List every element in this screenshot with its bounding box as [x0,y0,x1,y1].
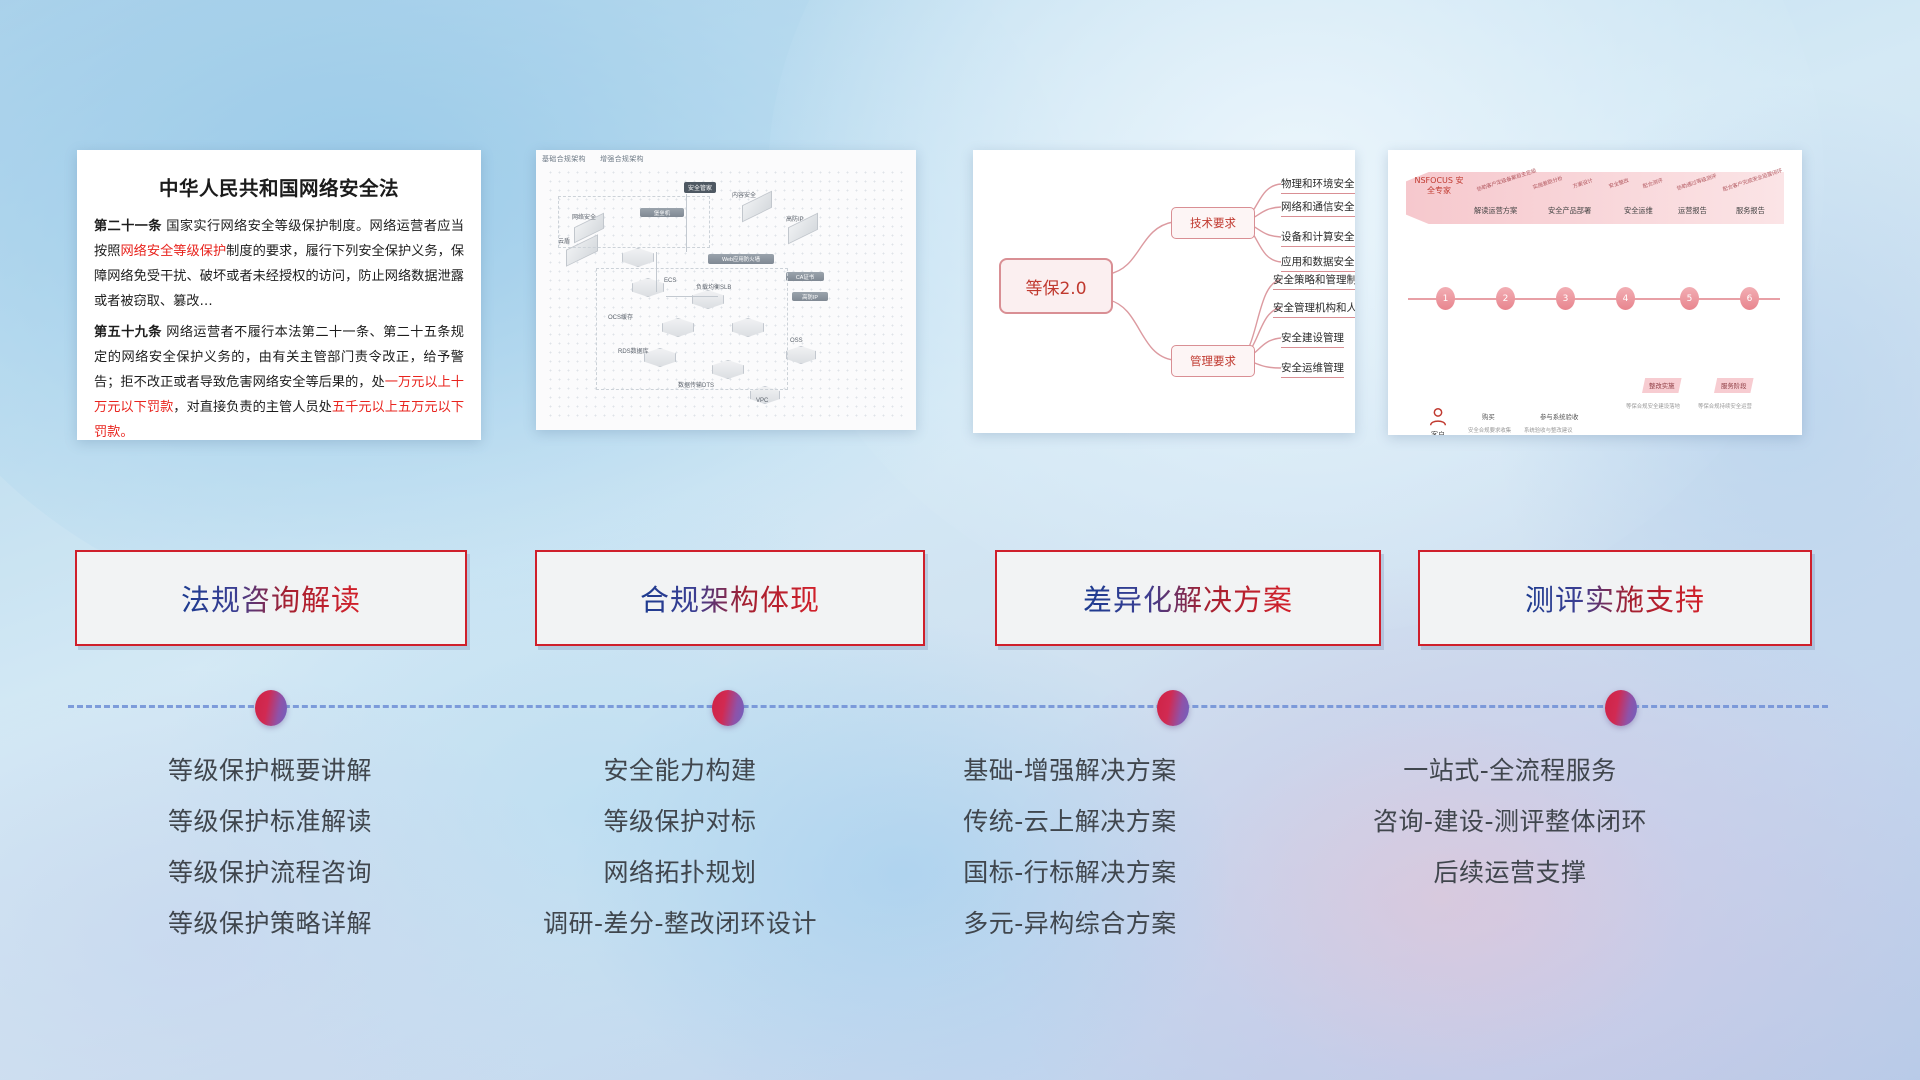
article-text-mid: ，对直接负责的主管人员处 [173,400,332,415]
phase-sub: 等保合规持续安全运营 [1698,402,1752,410]
column-differentiated-solution: 基础-增强解决方案 传统-云上解决方案 国标-行标解决方案 多元-异构综合方案 [860,745,1280,949]
thumbnail-dengbao-mindmap[interactable]: 等保2.0 技术要求 管理要求 物理和环境安全 网络和通信安全 设备和计算安全 … [973,150,1355,433]
timeline [0,690,1920,730]
nsfocus-caption: 安全运维 [1624,206,1653,216]
bottom-item: 参与系统验收 [1540,412,1578,421]
nsfocus-axis [1408,298,1780,300]
header-label: 法规咨询解读 [181,577,361,619]
column-assessment-support: 一站式-全流程服务 咨询-建设-测评整体闭环 后续运营支撑 [1300,745,1720,898]
mindmap-branch-technical: 技术要求 [1171,207,1255,239]
header-compliance-architecture[interactable]: 合规架构体现 [535,550,925,646]
bottom-item: 购买 [1482,412,1495,421]
timeline-dot-3[interactable] [1157,690,1189,726]
arch-label-oss: OSS [790,338,803,344]
mindmap-root: 等保2.0 [999,258,1113,314]
timeline-dashed-line [68,705,1828,708]
nsfocus-caption: 运营报告 [1678,206,1707,216]
list-item: 国标-行标解决方案 [860,847,1280,898]
bottom-sub: 系统验收与整改建议 [1524,426,1573,434]
list-item: 等级保护流程咨询 [60,847,480,898]
list-item: 传统-云上解决方案 [860,796,1280,847]
arch-caption-right: 增强合规架构 [600,154,644,164]
list-item: 等级保护对标 [470,796,890,847]
customer-label: 客户 [1412,430,1464,435]
law-article-21: 第二十一条 国家实行网络安全等级保护制度。网络运营者应当按照网络安全等级保护制度… [94,214,464,314]
list-item: 调研-差分-整改闭环设计 [470,898,890,949]
nsfocus-customer: 客户 安全合规需求 [1412,406,1464,435]
step-marker: 5 [1680,287,1699,310]
header-row: 法规咨询解读 合规架构体现 差异化解决方案 测评实施支持 [0,550,1920,650]
list-item: 网络拓扑规划 [470,847,890,898]
list-item: 安全能力构建 [470,745,890,796]
list-item: 一站式-全流程服务 [1300,745,1720,796]
nsfocus-caption: 服务报告 [1736,206,1765,216]
phase-sub: 等保合规安全建设落地 [1626,402,1680,410]
list-item: 等级保护策略详解 [60,898,480,949]
list-item: 多元-异构综合方案 [860,898,1280,949]
thumbnail-architecture-diagram[interactable]: 基础合规架构 增强合规架构 安全管家 堡垒机 网络安全 云盾 内容安全 高防IP… [536,150,916,430]
law-article-59: 第五十九条 网络运营者不履行本法第二十一条、第二十五条规定的网络安全保护义务的，… [94,320,464,440]
mindmap-leaf: 物理和环境安全 [1281,176,1355,194]
arch-node-waf: Web应用防火墙 [708,254,774,264]
mindmap-leaf: 设备和计算安全 [1281,229,1355,247]
arch-node-antiddos: 高防IP [792,292,828,301]
arch-label-vpc: VPC [756,398,768,404]
article-number: 第五十九条 [94,325,162,340]
law-title: 中华人民共和国网络安全法 [94,172,464,201]
column-compliance-architecture: 安全能力构建 等级保护对标 网络拓扑规划 调研-差分-整改闭环设计 [470,745,890,949]
list-item: 后续运营支撑 [1300,847,1720,898]
list-item: 基础-增强解决方案 [860,745,1280,796]
step-marker: 4 [1616,287,1635,310]
header-regulation-consulting[interactable]: 法规咨询解读 [75,550,467,646]
nsfocus-caption: 解读运营方案 [1474,206,1517,216]
header-label: 差异化解决方案 [1083,577,1293,619]
nsfocus-caption: 安全产品部署 [1548,206,1591,216]
header-label: 合规架构体现 [640,577,820,619]
list-item: 等级保护概要讲解 [60,745,480,796]
mindmap-branch-management: 管理要求 [1171,345,1255,377]
timeline-dot-1[interactable] [255,690,287,726]
step-marker: 1 [1436,287,1455,310]
bottom-sub: 安全合规要求收集 [1468,426,1511,434]
phase-tag: 服务阶段 [1714,378,1754,393]
arch-label-4: 高防IP [786,214,804,223]
mindmap-leaf: 安全运维管理 [1281,360,1344,378]
arch-label-3: 内容安全 [732,190,756,199]
mindmap-leaf: 网络和通信安全 [1281,199,1355,217]
thumbnail-cybersecurity-law[interactable]: 中华人民共和国网络安全法 第二十一条 国家实行网络安全等级保护制度。网络运营者应… [77,150,481,440]
article-number: 第二十一条 [94,219,162,234]
list-item: 咨询-建设-测评整体闭环 [1300,796,1720,847]
mindmap-leaf: 安全建设管理 [1281,330,1344,348]
step-marker: 6 [1740,287,1759,310]
person-icon [1427,406,1449,428]
timeline-dot-2[interactable] [712,690,744,726]
step-marker: 3 [1556,287,1575,310]
column-regulation-consulting: 等级保护概要讲解 等级保护标准解读 等级保护流程咨询 等级保护策略详解 [60,745,480,949]
phase-tag: 整改实施 [1642,378,1682,393]
thumbnail-row: 中华人民共和国网络安全法 第二十一条 国家实行网络安全等级保护制度。网络运营者应… [0,150,1920,440]
nsfocus-logo: NSFOCUS 安全专家 [1412,176,1466,196]
header-assessment-support[interactable]: 测评实施支持 [1418,550,1812,646]
bullet-columns: 等级保护概要讲解 等级保护标准解读 等级保护流程咨询 等级保护策略详解 安全能力… [0,745,1920,1005]
mindmap-leaf: 应用和数据安全 [1281,254,1355,272]
header-label: 测评实施支持 [1525,577,1705,619]
mindmap-leaf: 安全策略和管理制度 [1273,272,1355,290]
list-item: 等级保护标准解读 [60,796,480,847]
mindmap-leaf: 安全管理机构和人员 [1273,300,1355,318]
article-highlight: 网络安全等级保护 [120,244,226,259]
header-differentiated-solution[interactable]: 差异化解决方案 [995,550,1381,646]
step-marker: 2 [1496,287,1515,310]
arch-node-ca: CA证书 [786,272,824,281]
arch-node-main: 安全管家 [684,182,716,193]
thumbnail-nsfocus-timeline[interactable]: NSFOCUS 安全专家 协助客户定级备案自主定级 实施差距分析 方案设计 安全… [1388,150,1802,435]
arch-caption-left: 基础合规架构 [542,154,586,164]
timeline-dot-4[interactable] [1605,690,1637,726]
